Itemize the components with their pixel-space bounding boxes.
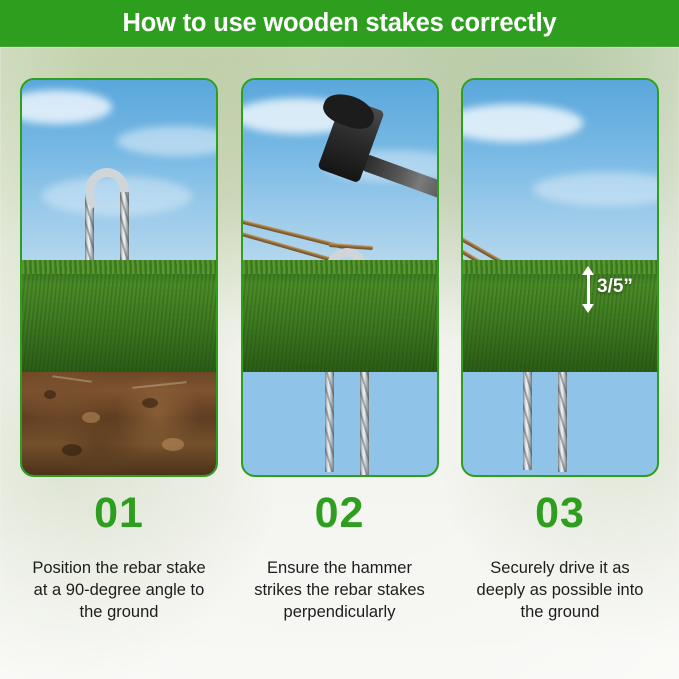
- step-caption-1: Position the rebar stake at a 90-degree …: [20, 557, 218, 623]
- page-title: How to use wooden stakes correctly: [123, 9, 557, 38]
- rebar-ribs: [360, 372, 369, 476]
- soil-speck: [142, 398, 158, 408]
- step-number-3: 03: [461, 487, 659, 539]
- rebar-stake-buried: [523, 372, 532, 470]
- soil-speck: [489, 392, 502, 401]
- soil-highlight: [393, 446, 417, 458]
- rebar-ribs: [325, 372, 334, 472]
- step-3: 03 Securely drive it as deeply as possib…: [461, 487, 659, 623]
- cloud-icon: [20, 90, 112, 124]
- soil-speck: [261, 394, 275, 403]
- cloud-icon: [533, 172, 659, 206]
- measurement-label: 3/5”: [597, 276, 633, 298]
- step-caption-2: Ensure the hammer strikes the rebar stak…: [241, 557, 439, 623]
- soil-speck: [383, 406, 399, 417]
- root-strand: [263, 376, 309, 386]
- header-banner: How to use wooden stakes correctly: [0, 0, 679, 47]
- soil-speck: [62, 444, 82, 456]
- infographic-root: How to use wooden stakes correctly: [0, 0, 679, 679]
- soil-highlight: [295, 420, 315, 432]
- rebar-stake-buried: [558, 372, 567, 472]
- cloud-icon: [117, 126, 218, 156]
- step-number-2: 02: [241, 487, 439, 539]
- step-2: 02 Ensure the hammer strikes the rebar s…: [241, 487, 439, 623]
- panel-step-1: [20, 78, 218, 477]
- grass-edge-1: [22, 260, 216, 274]
- rebar-stake-buried: [360, 372, 369, 476]
- cloud-icon: [461, 104, 583, 142]
- grass-edge-2: [243, 260, 437, 274]
- soil-highlight: [82, 412, 100, 423]
- panel-row: 3/5”: [0, 78, 679, 477]
- panel-step-3: 3/5”: [461, 78, 659, 477]
- grass-layer-1: [22, 260, 216, 372]
- step-1: 01 Position the rebar stake at a 90-degr…: [20, 487, 218, 623]
- soil-speck: [44, 390, 56, 399]
- grass-edge-3: [463, 260, 657, 274]
- root-strand: [52, 375, 92, 383]
- rebar-ribs: [558, 372, 567, 472]
- root-strand: [132, 381, 187, 389]
- soil-highlight: [607, 452, 629, 464]
- panel-step-2: [241, 78, 439, 477]
- soil-layer-1: [22, 372, 216, 475]
- measure-line: [587, 273, 590, 305]
- measure-arrow-down-icon: [582, 304, 594, 313]
- rebar-stake-buried: [325, 372, 334, 472]
- soil-highlight: [162, 438, 184, 451]
- rebar-ribs: [523, 372, 532, 470]
- soil-speck: [595, 402, 612, 412]
- steps-row: 01 Position the rebar stake at a 90-degr…: [0, 487, 679, 623]
- grass-layer-2: [243, 260, 437, 372]
- soil-layer-2: [243, 372, 437, 475]
- sky-3: [463, 80, 657, 272]
- step-number-1: 01: [20, 487, 218, 539]
- step-caption-3: Securely drive it as deeply as possible …: [461, 557, 659, 623]
